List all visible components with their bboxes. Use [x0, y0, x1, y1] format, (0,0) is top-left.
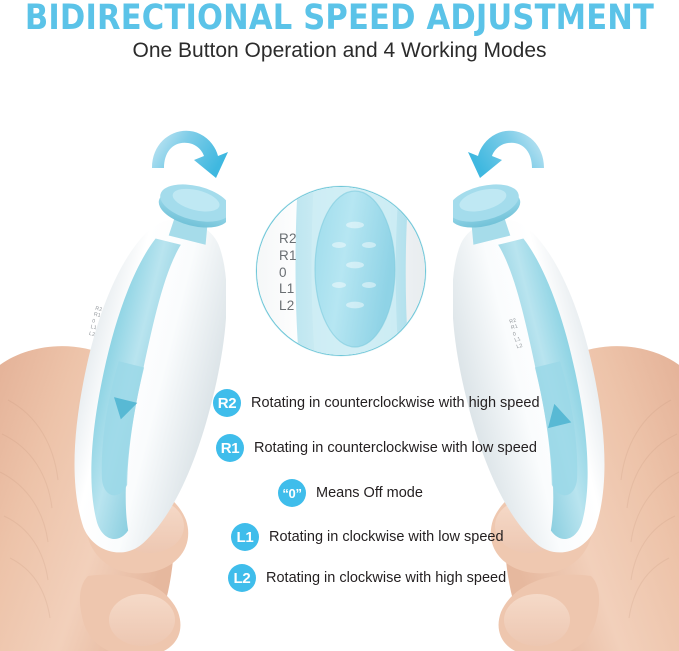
badge-r1: R1: [216, 434, 244, 462]
badge-zero: “0”: [278, 479, 306, 507]
legend-row-l1: L1 Rotating in clockwise with low speed: [231, 523, 504, 551]
legend-text-r1: Rotating in counterclockwise with low sp…: [254, 440, 537, 456]
legend-text-l1: Rotating in clockwise with low speed: [269, 529, 504, 545]
legend-row-r2: R2 Rotating in counterclockwise with hig…: [213, 389, 540, 417]
legend-text-0: Means Off mode: [316, 485, 423, 501]
legend-text-r2: Rotating in counterclockwise with high s…: [251, 395, 540, 411]
legend-row-l2: L2 Rotating in clockwise with high speed: [228, 564, 506, 592]
mode-legend: R2 Rotating in counterclockwise with hig…: [0, 0, 679, 651]
badge-l2: L2: [228, 564, 256, 592]
badge-r2: R2: [213, 389, 241, 417]
badge-l1: L1: [231, 523, 259, 551]
legend-row-r1: R1 Rotating in counterclockwise with low…: [216, 434, 537, 462]
infographic-canvas: BIDIRECTIONAL SPEED ADJUSTMENT One Butto…: [0, 0, 679, 651]
legend-row-0: “0” Means Off mode: [278, 479, 423, 507]
legend-text-l2: Rotating in clockwise with high speed: [266, 570, 506, 586]
